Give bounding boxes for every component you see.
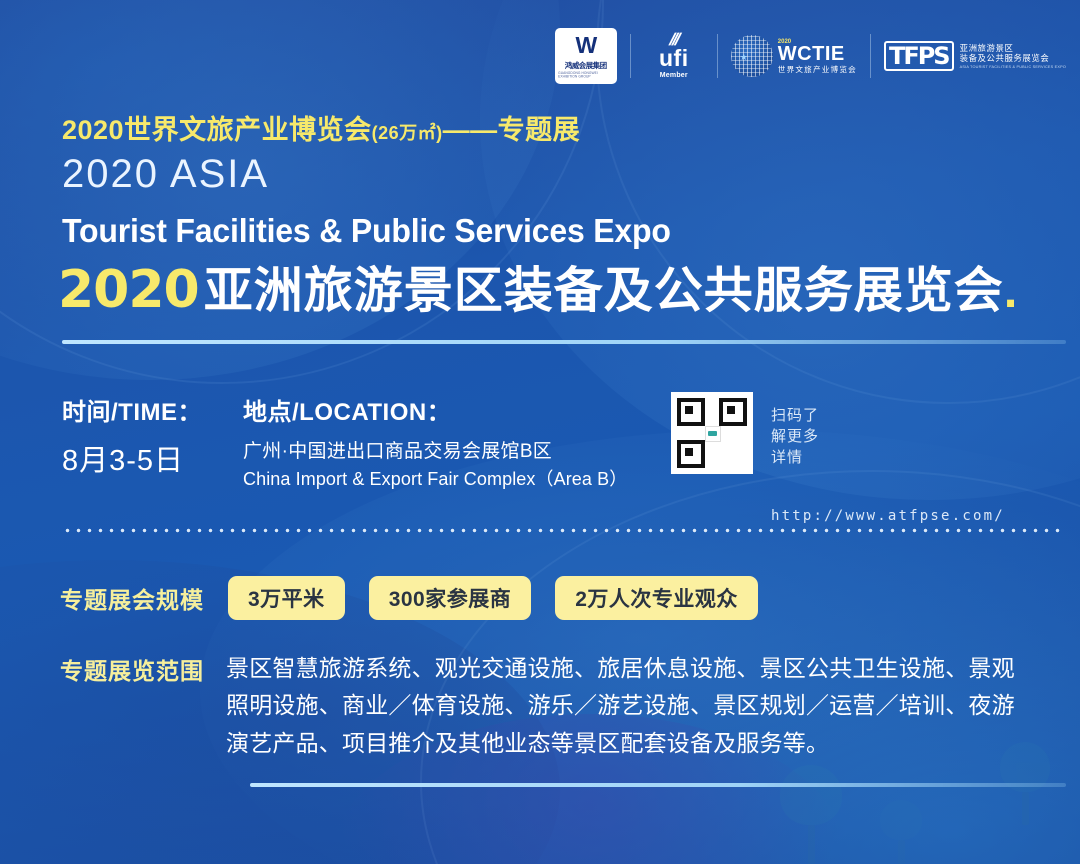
logo-hongwei-cn: 鸿威会展集团 (565, 60, 607, 70)
logo-wctie-name: WCTIE (778, 44, 857, 64)
globe-icon (731, 35, 773, 77)
logo-divider (870, 34, 871, 78)
headline-period: . (1004, 267, 1018, 316)
qr-caption: 扫码了解更多详情 (771, 404, 833, 500)
divider-top (62, 340, 1066, 344)
location-venue-cn: 广州·中国进出口商品交易会展馆B区 (243, 436, 627, 463)
logo-tfps: TFPS 亚洲旅游景区 装备及公共服务展览会 ASIA TOURIST FACI… (884, 41, 1066, 71)
time-value: 8月3-5日 (62, 437, 202, 479)
scale-pill-exhibitors: 300家参展商 (369, 576, 532, 620)
qr-code-icon[interactable] (671, 392, 753, 474)
location-block: 地点/LOCATION： 广州·中国进出口商品交易会展馆B区 China Imp… (243, 392, 627, 491)
divider-bottom (250, 783, 1066, 787)
divider-dotted (62, 528, 1066, 533)
wing-emblem-icon: W (575, 34, 596, 57)
logo-tfps-cn2: 装备及公共服务展览会 (960, 53, 1066, 64)
scope-body: 景区智慧旅游系统、观光交通设施、旅居休息设施、景区公共卫生设施、景观照明设施、商… (226, 650, 1026, 762)
logo-tfps-en: ASIA TOURIST FACILITIES & PUBLIC SERVICE… (960, 65, 1066, 70)
logo-hongwei-en: GUANGDONG HONGWEI EXHIBITION GROUP (558, 71, 614, 78)
location-venue-en: China Import & Export Fair Complex（Area … (243, 465, 627, 491)
scale-pill-area: 3万平米 (228, 576, 345, 620)
logo-bar: W 鸿威会展集团 GUANGDONG HONGWEI EXHIBITION GR… (555, 24, 1066, 88)
logo-wctie: 2020 WCTIE 世界文旅产业博览会 (731, 35, 857, 77)
time-label: 时间/TIME： (62, 392, 202, 427)
tree-icon (880, 800, 922, 864)
tree-icon (780, 765, 842, 861)
poster-canvas: W 鸿威会展集团 GUANGDONG HONGWEI EXHIBITION GR… (0, 0, 1080, 864)
headline-english: Tourist Facilities & Public Services Exp… (62, 212, 671, 250)
headline-big-year: 2020 (58, 264, 199, 316)
kicker-area: (26万㎡) (372, 123, 443, 143)
ufi-slashes-icon: /// (642, 33, 706, 47)
scale-pill-visitors: 2万人次专业观众 (555, 576, 758, 620)
logo-divider (717, 34, 718, 78)
scale-row: 专题展会规模 3万平米 300家参展商 2万人次专业观众 (60, 576, 758, 620)
kicker-main: 2020世界文旅产业博览会 (62, 115, 372, 145)
scope-label: 专题展览范围 (60, 650, 204, 762)
location-label: 地点/LOCATION： (243, 392, 627, 427)
kicker-line: 2020世界文旅产业博览会(26万㎡)——专题展 (62, 108, 580, 147)
scale-label: 专题展会规模 (60, 581, 204, 615)
headline-asia: 2020 ASIA (62, 152, 269, 197)
logo-ufi: /// ufi Member (644, 33, 704, 79)
logo-tfps-cn1: 亚洲旅游景区 (960, 43, 1066, 54)
headline-main-title: 2020 亚洲旅游景区装备及公共服务展览会 . (58, 264, 1017, 316)
scope-row: 专题展览范围 景区智慧旅游系统、观光交通设施、旅居休息设施、景区公共卫生设施、景… (60, 650, 1026, 762)
qr-url[interactable]: http://www.atfpse.com/ (771, 508, 821, 588)
headline-big-cn: 亚洲旅游景区装备及公共服务展览会 (204, 267, 1004, 316)
logo-ufi-member: Member (644, 72, 704, 79)
kicker-tail: ——专题展 (443, 115, 581, 145)
logo-divider (630, 34, 631, 78)
tfps-monogram-icon: TFPS (884, 41, 954, 71)
logo-wctie-cn: 世界文旅产业博览会 (778, 66, 857, 74)
time-block: 时间/TIME： 8月3-5日 (62, 392, 202, 479)
logo-hongwei: W 鸿威会展集团 GUANGDONG HONGWEI EXHIBITION GR… (555, 28, 617, 84)
qr-block[interactable]: 扫码了解更多详情 http://www.atfpse.com/ (671, 392, 833, 588)
